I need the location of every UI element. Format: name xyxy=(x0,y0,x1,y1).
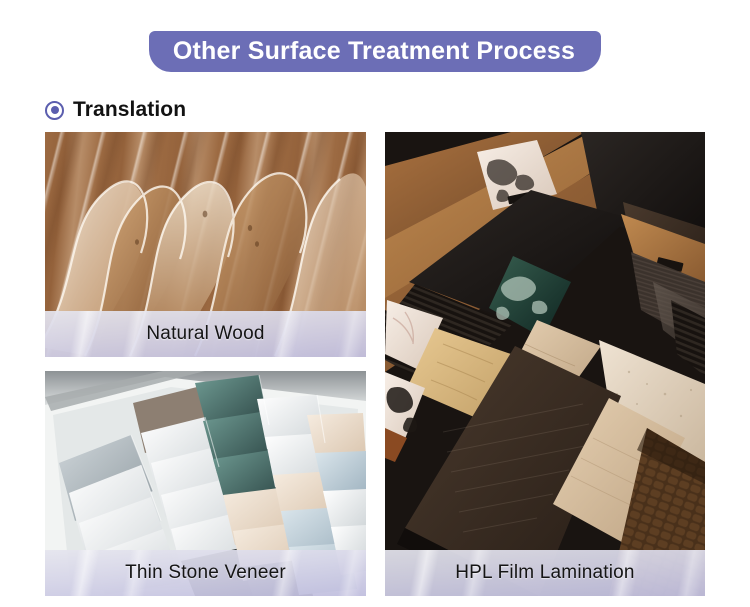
card-caption-hpl: HPL Film Lamination xyxy=(385,550,705,596)
card-caption-label: Natural Wood xyxy=(146,323,264,345)
hpl-photo xyxy=(385,132,705,596)
card-caption-thin-stone: Thin Stone Veneer xyxy=(45,550,366,596)
card-hpl[interactable]: HPL Film Lamination xyxy=(385,132,705,596)
title-banner-row: Other Surface Treatment Process xyxy=(0,31,750,72)
card-thin-stone[interactable]: Thin Stone Veneer xyxy=(45,371,366,596)
card-caption-label: HPL Film Lamination xyxy=(455,562,634,584)
card-natural-wood[interactable]: Natural Wood xyxy=(45,132,366,357)
section-heading: Translation xyxy=(45,98,186,122)
card-caption-natural-wood: Natural Wood xyxy=(45,311,366,357)
radio-filled-icon xyxy=(45,101,64,120)
section-heading-label: Translation xyxy=(73,98,186,122)
card-caption-label: Thin Stone Veneer xyxy=(125,562,286,584)
hpl-sample-boards xyxy=(385,132,705,596)
page-title-banner: Other Surface Treatment Process xyxy=(149,31,601,72)
